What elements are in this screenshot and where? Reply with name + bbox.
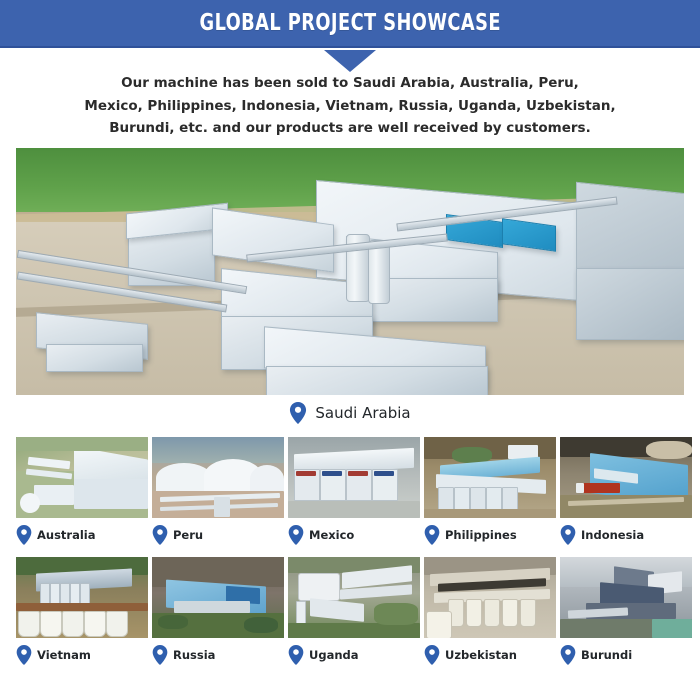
project-thumbnail [152,437,284,518]
triangle-down-icon [324,50,376,72]
project-label-text: Indonesia [581,528,644,542]
project-label-text: Australia [37,528,96,542]
project-label: Vietnam [16,638,148,666]
project-thumbnail [288,557,420,638]
hero-caption-label: Saudi Arabia [315,404,410,422]
intro-paragraph: Our machine has been sold to Saudi Arabi… [50,72,650,140]
map-pin-icon [16,525,32,545]
project-thumbnail [560,437,692,518]
page-header: GLOBAL PROJECT SHOWCASE [0,0,700,48]
project-label: Philippines [424,518,556,546]
arrow-container [0,50,700,74]
project-card-mexico[interactable]: Mexico [288,437,420,546]
project-label: Mexico [288,518,420,546]
project-card-uzbekistan[interactable]: Uzbekistan [424,557,556,666]
project-label: Indonesia [560,518,692,546]
project-card-uganda[interactable]: Uganda [288,557,420,666]
map-pin-icon [16,645,32,665]
project-label: Burundi [560,638,692,666]
project-grid-row-1: Australia Peru [16,437,684,546]
map-pin-icon [424,525,440,545]
project-label: Peru [152,518,284,546]
project-card-philippines[interactable]: Philippines [424,437,556,546]
map-pin-icon [424,645,440,665]
map-pin-icon [560,645,576,665]
project-thumbnail [16,557,148,638]
global-project-showcase-page: GLOBAL PROJECT SHOWCASE Our machine has … [0,0,700,700]
project-card-russia[interactable]: Russia [152,557,284,666]
map-pin-icon [288,645,304,665]
project-thumbnail [560,557,692,638]
page-title: GLOBAL PROJECT SHOWCASE [199,10,500,36]
project-grid-row-2: Vietnam Russia [16,557,684,666]
project-card-burundi[interactable]: Burundi [560,557,692,666]
map-pin-icon [288,525,304,545]
project-label: Australia [16,518,148,546]
map-pin-icon [560,525,576,545]
project-label-text: Peru [173,528,203,542]
project-thumbnail [288,437,420,518]
project-card-indonesia[interactable]: Indonesia [560,437,692,546]
project-thumbnail [152,557,284,638]
project-label-text: Uganda [309,648,359,662]
map-pin-icon [152,645,168,665]
project-thumbnail [16,437,148,518]
project-label: Russia [152,638,284,666]
hero-caption: Saudi Arabia [0,400,700,426]
project-label-text: Mexico [309,528,354,542]
project-thumbnail [424,557,556,638]
project-label-text: Philippines [445,528,517,542]
project-label-text: Vietnam [37,648,91,662]
intro-line-1: Our machine has been sold to Saudi Arabi… [50,72,650,95]
map-pin-icon [289,402,307,424]
intro-line-2: Mexico, Philippines, Indonesia, Vietnam,… [50,95,650,118]
hero-image [16,148,684,395]
project-card-vietnam[interactable]: Vietnam [16,557,148,666]
project-thumbnail [424,437,556,518]
project-label-text: Russia [173,648,215,662]
project-label-text: Burundi [581,648,632,662]
project-card-australia[interactable]: Australia [16,437,148,546]
project-label-text: Uzbekistan [445,648,517,662]
intro-line-3: Burundi, etc. and our products are well … [50,117,650,140]
map-pin-icon [152,525,168,545]
project-label: Uzbekistan [424,638,556,666]
project-label: Uganda [288,638,420,666]
project-card-peru[interactable]: Peru [152,437,284,546]
